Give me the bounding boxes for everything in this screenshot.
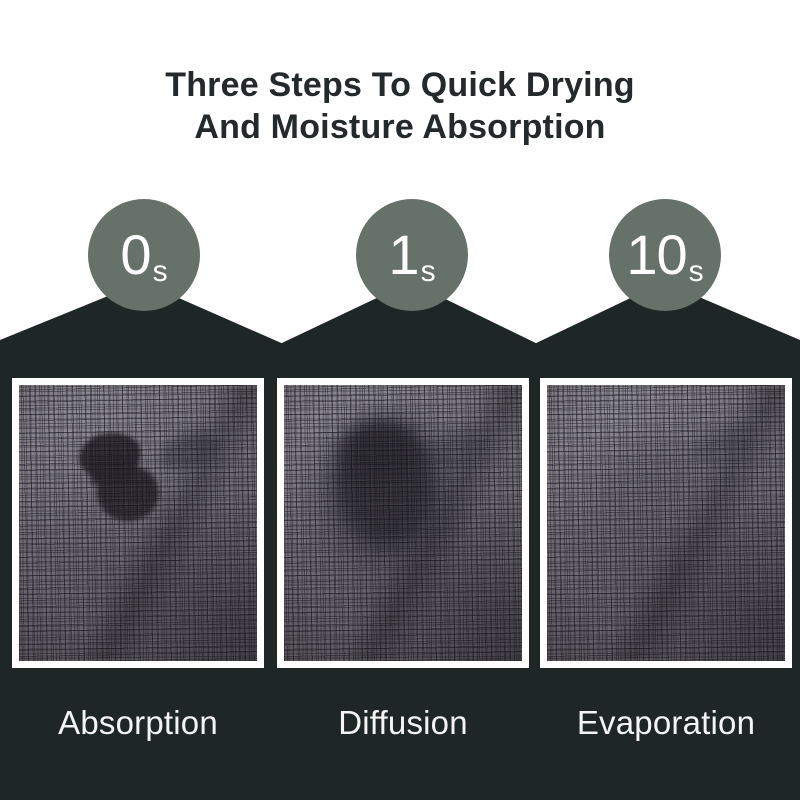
step-photo-frame-absorption [12, 378, 264, 668]
step-timer-unit: s [689, 257, 704, 287]
step-timer-value: 1 [388, 227, 418, 283]
fabric-photo-evaporation [547, 385, 785, 661]
step-caption-absorption: Absorption [12, 703, 264, 743]
step-timer-badge-absorption: 0 s [88, 199, 200, 311]
infographic-canvas: Three Steps To Quick Drying And Moisture… [0, 0, 800, 800]
step-timer-unit: s [421, 257, 436, 287]
step-timer-badge-evaporation: 10 s [609, 199, 721, 311]
step-timer-unit: s [153, 257, 168, 287]
fabric-photo-diffusion [284, 385, 522, 661]
photo-vignette [547, 385, 785, 661]
step-timer-badge-diffusion: 1 s [356, 199, 468, 311]
photo-vignette [19, 385, 257, 661]
step-caption-evaporation: Evaporation [540, 703, 792, 743]
step-photo-frame-diffusion [277, 378, 529, 668]
page-title: Three Steps To Quick Drying And Moisture… [0, 64, 800, 148]
step-photo-frame-evaporation [540, 378, 792, 668]
step-caption-diffusion: Diffusion [277, 703, 529, 743]
page-title-line-2: And Moisture Absorption [0, 106, 800, 148]
page-title-line-1: Three Steps To Quick Drying [0, 64, 800, 106]
photo-vignette [284, 385, 522, 661]
step-timer-value: 10 [626, 227, 686, 283]
fabric-photo-absorption [19, 385, 257, 661]
step-timer-value: 0 [120, 227, 150, 283]
